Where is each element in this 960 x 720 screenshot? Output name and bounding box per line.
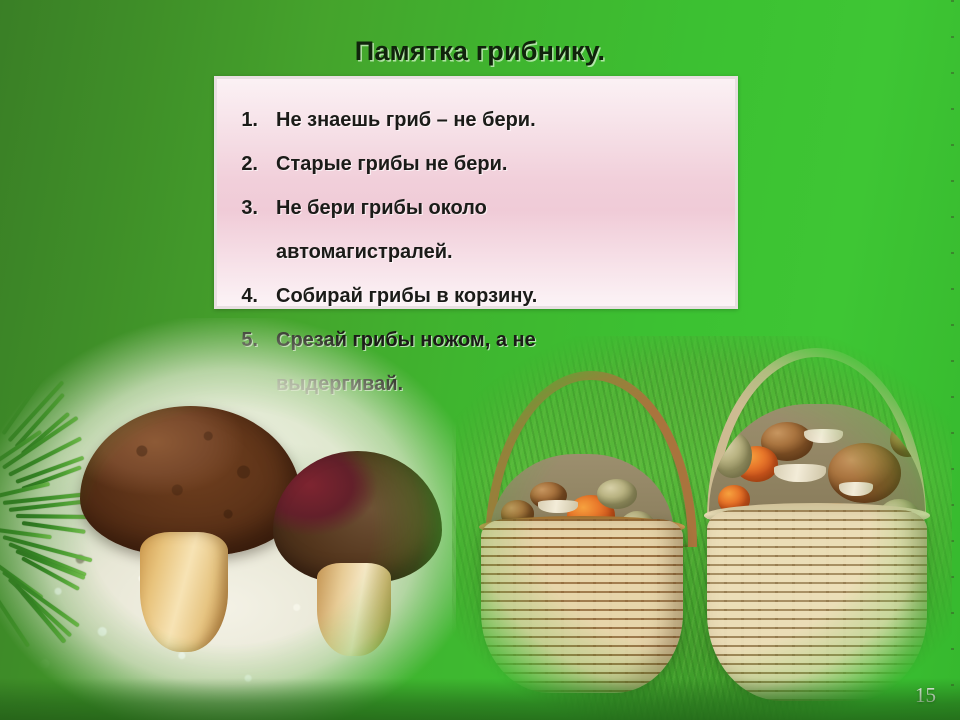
mushroom-cap: [890, 422, 925, 457]
mushroom-baskets-photo: [452, 336, 952, 720]
basket-weave: [481, 519, 683, 693]
porcini-mushrooms-photo: [0, 318, 456, 720]
rule-text: Не бери грибы около: [258, 186, 487, 230]
porcini-small: [273, 451, 442, 652]
rule-text: Старые грибы не бери.: [258, 142, 507, 186]
mushroom-stem: [140, 532, 228, 653]
mushroom-stalk: [774, 464, 826, 482]
pine-needle: [0, 482, 50, 498]
mushroom-stalk: [538, 500, 579, 512]
slide: Памятка грибнику. 1.Не знаешь гриб – не …: [0, 0, 960, 720]
rule-number: 3.: [214, 186, 258, 230]
rule-item: 3.Не бери грибы около: [214, 186, 774, 230]
rule-text: автомагистралей.: [258, 230, 453, 274]
porcini-large: [80, 406, 301, 647]
rule-item-continuation: автомагистралей.: [214, 230, 774, 274]
rule-number: 2.: [214, 142, 258, 186]
rule-number: 1.: [214, 98, 258, 142]
wicker-basket-white: [697, 348, 937, 701]
rule-number: 4.: [214, 274, 258, 318]
pine-needle: [0, 598, 30, 648]
rule-text: Собирай грибы в корзину.: [258, 274, 537, 318]
mushroom-stalk: [804, 429, 843, 443]
rule-item: 1.Не знаешь гриб – не бери.: [214, 98, 774, 142]
page-title: Памятка грибнику.: [0, 36, 960, 67]
mushroom-stem: [317, 563, 391, 655]
basket-weave: [707, 510, 928, 701]
pine-needle: [15, 514, 88, 519]
page-number: 15: [915, 683, 936, 708]
rule-text: Не знаешь гриб – не бери.: [258, 98, 536, 142]
rule-item: 2.Старые грибы не бери.: [214, 142, 774, 186]
rule-item: 4.Собирай грибы в корзину.: [214, 274, 774, 318]
mushroom-cap: [597, 479, 638, 509]
wicker-basket-brown: [472, 371, 692, 694]
